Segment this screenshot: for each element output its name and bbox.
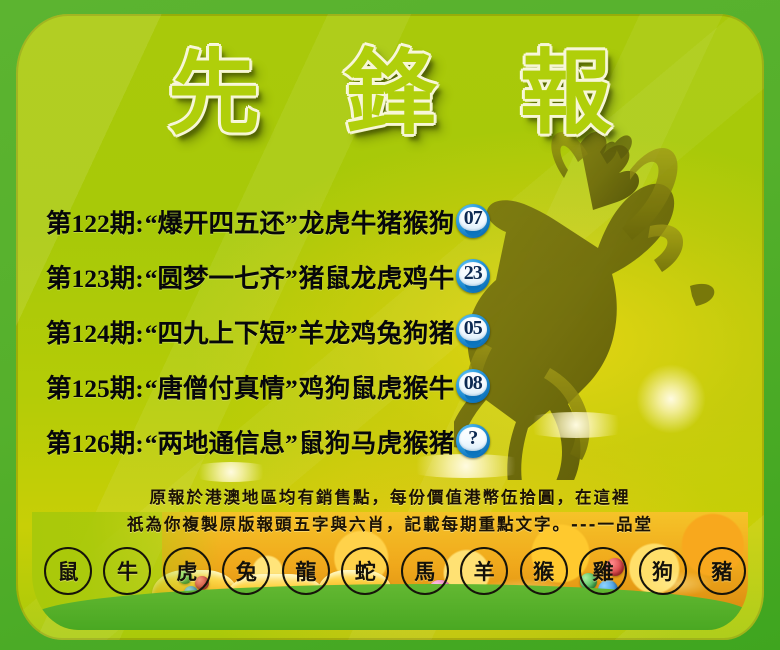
animal-list: 猪鼠龙虎鸡牛 [299,258,455,295]
zodiac-snake[interactable]: 蛇 [341,547,389,595]
ball-number: 08 [464,372,482,395]
issue-label: 第123期: [46,258,144,295]
zodiac-ox[interactable]: 牛 [103,547,151,595]
zodiac-dog[interactable]: 狗 [639,547,687,595]
zodiac-rooster[interactable]: 雞 [579,547,627,595]
lottery-ball: 08 [456,369,490,403]
list-item[interactable]: 第123期: “圆梦一七齐” 猪鼠龙虎鸡牛 23 [46,249,740,304]
footer-note-line-1: 原報於港澳地區均有銷售點，每份價值港幣伍拾圓，在這裡 [0,484,780,511]
list-item[interactable]: 第125期: “唐僧付真情” 鸡狗鼠虎猴牛 08 [46,359,740,414]
animal-list: 鼠狗马虎猴猪 [299,423,455,460]
ball-number: 23 [464,262,482,285]
zodiac-rabbit[interactable]: 兔 [222,547,270,595]
issue-label: 第126期: [46,423,144,460]
zodiac-dragon[interactable]: 龍 [282,547,330,595]
animal-list: 羊龙鸡兔狗猪 [299,313,455,350]
lottery-ball: 05 [456,314,490,348]
zodiac-rat[interactable]: 鼠 [44,547,92,595]
issue-label: 第124期: [46,313,144,350]
list-item[interactable]: 第126期: “两地通信息” 鼠狗马虎猴猪 ? [46,414,740,469]
zodiac-horse[interactable]: 馬 [401,547,449,595]
issue-list: 第122期: “爆开四五还” 龙虎牛猪猴狗 07 第123期: “圆梦一七齐” … [46,194,740,469]
phrase-quoted: “圆梦一七齐” [145,258,298,295]
phrase-quoted: “四九上下短” [145,313,298,350]
list-item[interactable]: 第124期: “四九上下短” 羊龙鸡兔狗猪 05 [46,304,740,359]
phrase-quoted: “两地通信息” [145,423,298,460]
footer-note-line-2: 祇為你複製原版報頭五字與六肖，記載每期重點文字。---一品堂 [0,511,780,538]
animal-list: 龙虎牛猪猴狗 [299,203,455,240]
poster-root: 先 鋒 報 第122期: “爆开四五还” 龙虎牛猪猴狗 07 第123期: “圆… [0,0,780,650]
lottery-ball: 07 [456,204,490,238]
phrase-quoted: “唐僧付真情” [145,368,298,405]
zodiac-row: 鼠 牛 虎 兔 龍 蛇 馬 羊 猴 雞 狗 豬 [44,548,746,594]
ball-number: 05 [464,317,482,340]
lottery-ball-unknown: ? [456,424,490,458]
list-item[interactable]: 第122期: “爆开四五还” 龙虎牛猪猴狗 07 [46,194,740,249]
ball-number: ? [468,427,477,450]
lottery-ball: 23 [456,259,490,293]
zodiac-tiger[interactable]: 虎 [163,547,211,595]
title-area: 先 鋒 報 [0,48,780,140]
issue-label: 第125期: [46,368,144,405]
footer-note: 原報於港澳地區均有銷售點，每份價值港幣伍拾圓，在這裡 祇為你複製原版報頭五字與六… [0,484,780,538]
animal-list: 鸡狗鼠虎猴牛 [299,368,455,405]
page-title: 先 鋒 報 [142,48,638,140]
zodiac-goat[interactable]: 羊 [460,547,508,595]
zodiac-monkey[interactable]: 猴 [520,547,568,595]
phrase-quoted: “爆开四五还” [145,203,298,240]
zodiac-pig[interactable]: 豬 [698,547,746,595]
ball-number: 07 [464,207,482,230]
issue-label: 第122期: [46,203,144,240]
